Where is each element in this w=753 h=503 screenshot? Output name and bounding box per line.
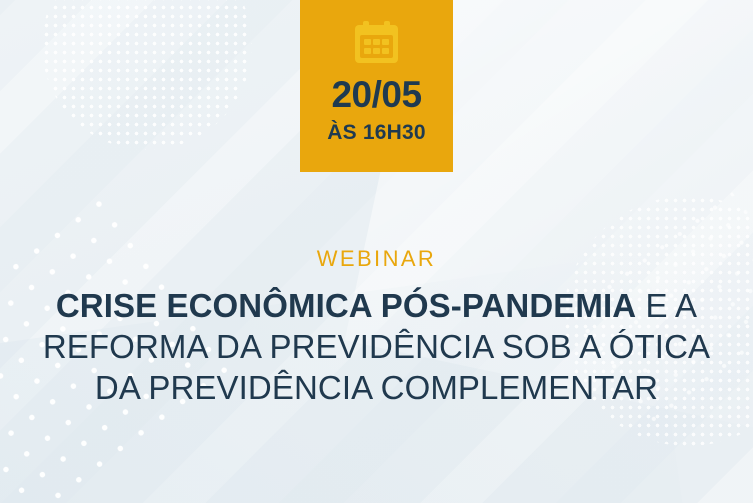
event-date: 20/05: [331, 76, 421, 113]
title-line-1-rest: E A: [636, 287, 697, 324]
title-line-3: DA PREVIDÊNCIA COMPLEMENTAR: [0, 367, 753, 408]
calendar-icon: [354, 21, 399, 64]
date-card: 20/05 ÀS 16H30: [300, 0, 453, 172]
title-line-2: REFORMA DA PREVIDÊNCIA SOB A ÓTICA: [0, 326, 753, 367]
title-emphasis: CRISE ECONÔMICA PÓS-PANDEMIA: [56, 287, 636, 324]
webinar-banner: 20/05 ÀS 16H30 WEBINAR CRISE ECONÔMICA P…: [0, 0, 753, 503]
eyebrow-label: WEBINAR: [0, 248, 753, 270]
event-time: ÀS 16H30: [327, 122, 426, 143]
title-line-1: CRISE ECONÔMICA PÓS-PANDEMIA E A: [0, 285, 753, 326]
headline-block: WEBINAR CRISE ECONÔMICA PÓS-PANDEMIA E A…: [0, 248, 753, 408]
